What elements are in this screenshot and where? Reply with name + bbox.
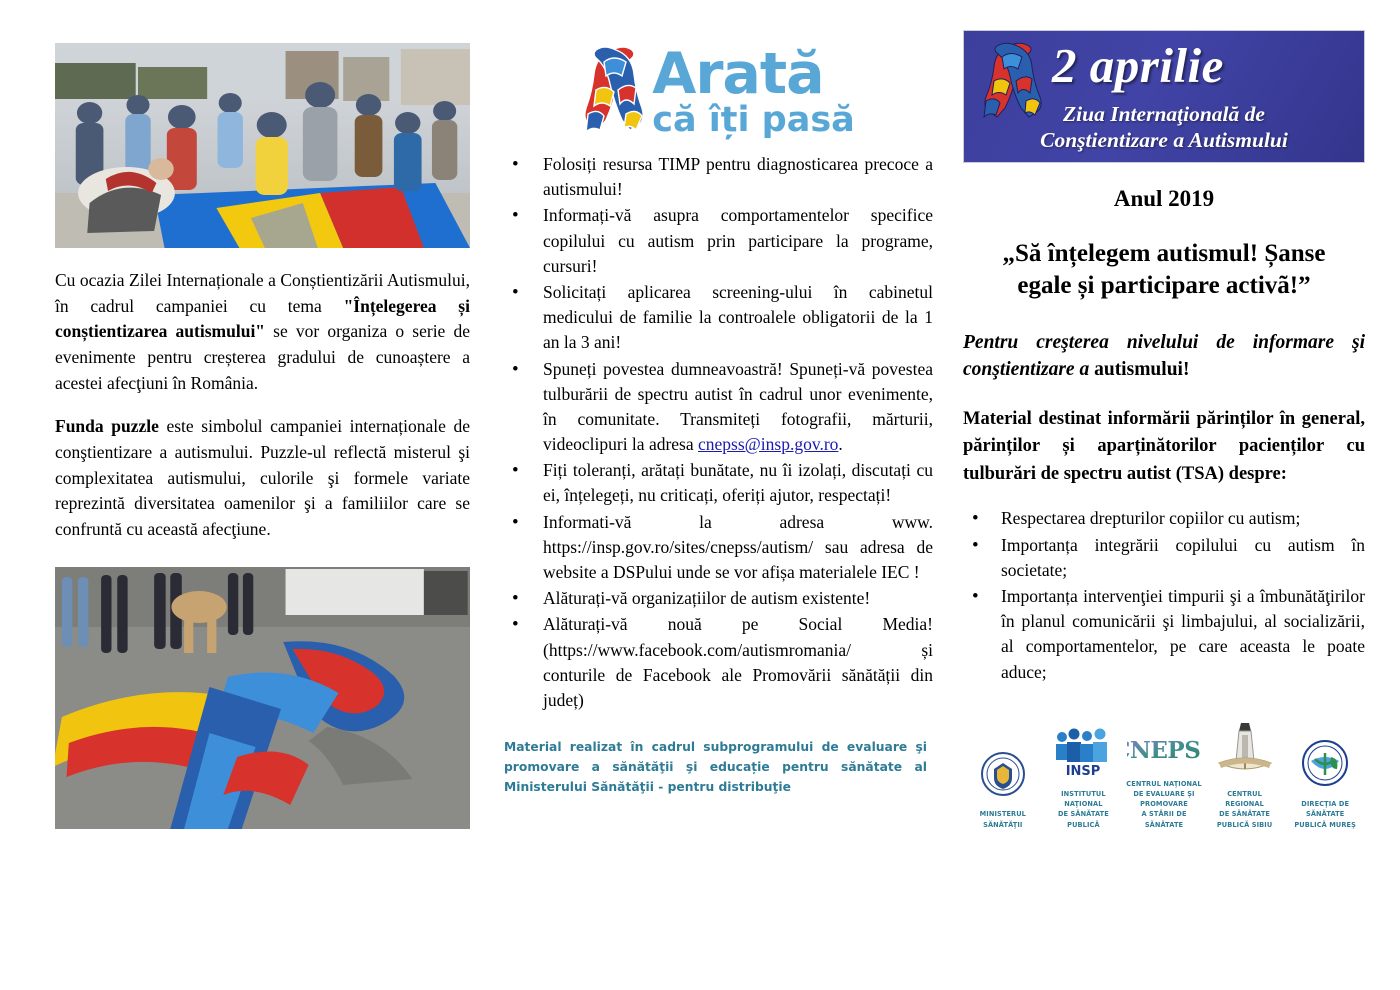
list-item: Informati-vă la adresa www. https://insp…: [504, 510, 933, 586]
logo-caption: CENTRUL NAŢIONAL DE EVALUARE ŞI PROMOVAR…: [1126, 779, 1202, 830]
list-item-story: Spuneți povestea dumneavoastră! Spuneți-…: [504, 357, 933, 458]
list-item: Importanța intervenţiei timpurii şi a îm…: [963, 584, 1365, 685]
logo-line-2: că îți pasă: [652, 104, 855, 136]
lighthouse-book-icon: [1215, 721, 1275, 777]
email-link[interactable]: cnepss@insp.gov.ro: [698, 434, 838, 454]
middle-column: Arată că îți pasă Folosiți resursa TIMP …: [490, 30, 945, 970]
logo-crsp-sibiu: CENTRUL REGIONAL DE SĂNĂTATE PUBLICĂ SIB…: [1207, 721, 1283, 830]
list-item: Solicitați aplicarea screening-ului în c…: [504, 280, 933, 356]
topics-bullet-list: Respectarea drepturilor copiilor cu auti…: [963, 506, 1365, 684]
intro-paragraph: Cu ocazia Zilei Internaționale a Conștie…: [55, 268, 470, 397]
puzzle-text-bold: Funda puzzle: [55, 416, 159, 436]
banner-title: 2 aprilie: [1052, 37, 1356, 94]
banner-subtitle-line-2: Conştientizare a Autismului: [964, 127, 1364, 153]
right-column: 2 aprilie Ziua Internaţională de Conştie…: [945, 30, 1365, 970]
slogan-line-2: egale și participare activã!”: [963, 270, 1365, 302]
banner-subtitle: Ziua Internaţională de Conştientizare a …: [964, 101, 1364, 153]
story-text-post: .: [838, 434, 842, 454]
list-item: Respectarea drepturilor copiilor cu auti…: [963, 506, 1365, 531]
list-item: Informați-vă asupra comportamentelor spe…: [504, 203, 933, 279]
year-label: Anul 2019: [963, 186, 1365, 212]
list-item: Alăturați-vă organizațiilor de autism ex…: [504, 586, 933, 611]
photo-giant-puzzle-ribbon-pavement: [55, 567, 470, 829]
logo-caption: CENTRUL REGIONAL DE SĂNĂTATE PUBLICĂ SIB…: [1207, 789, 1283, 830]
list-item: Importanța integrării copilului cu autis…: [963, 533, 1365, 583]
logo-cnepss: CNEPSS CENTRUL NAŢIONAL DE EVALUARE ŞI P…: [1126, 711, 1202, 830]
insp-people-icon: INSP: [1054, 727, 1112, 777]
logo-caption: INSTITUTUL NAŢIONAL DE SĂNĂTATE PUBLICĂ: [1046, 789, 1122, 830]
arata-ca-iti-pasa-logo: Arată că îți pasă: [504, 32, 933, 152]
funding-note: Material realizat în cadrul subprogramul…: [504, 738, 933, 798]
promo-roman-text: autismului!: [1094, 359, 1189, 380]
cnepss-wordmark-icon: CNEPSS: [1127, 733, 1201, 767]
partner-logos-strip: MINISTERUL SĂNĂTĂŢII INSP INSTITUTUL NA: [963, 711, 1365, 830]
logo-caption: DIRECŢIA DE SĂNĂTATE PUBLICĂ MUREŞ: [1287, 799, 1363, 830]
logo-dsp-mures: DIRECŢIA DE SĂNĂTATE PUBLICĂ MUREŞ: [1287, 731, 1363, 830]
logo-line-1: Arată: [652, 48, 855, 100]
mures-health-seal-icon: [1301, 739, 1349, 787]
puzzle-ribbon-icon: [582, 42, 646, 142]
slogan-line-1: „Să înțelegem autismul! Șanse: [963, 238, 1365, 270]
left-column: Cu ocazia Zilei Internaționale a Conștie…: [35, 30, 490, 970]
list-item: Alăturați-vă nouă pe Social Media! (http…: [504, 612, 933, 713]
audience-statement: Material destinat informării părinților …: [963, 406, 1365, 488]
svg-text:CNEPSS: CNEPSS: [1127, 737, 1201, 764]
logo-caption: MINISTERUL SĂNĂTĂŢII: [965, 809, 1041, 829]
photo-crowd-puzzle-ribbon-street: [55, 43, 470, 248]
action-bullet-list: Folosiți resursa TIMP pentru diagnostica…: [504, 152, 933, 713]
list-item: Fiți toleranți, arătați bunătate, nu îi …: [504, 458, 933, 508]
government-seal-icon: [980, 751, 1026, 797]
campaign-slogan: „Să înțelegem autismul! Șanse egale și p…: [963, 238, 1365, 302]
logo-insp: INSP INSTITUTUL NAŢIONAL DE SĂNĂTATE PUB…: [1046, 721, 1122, 830]
svg-text:INSP: INSP: [1066, 764, 1101, 777]
banner-subtitle-line-1: Ziua Internaţională de: [964, 101, 1364, 127]
brochure-page: Cu ocazia Zilei Internaționale a Conștie…: [0, 0, 1400, 990]
awareness-day-banner: 2 aprilie Ziua Internaţională de Conştie…: [963, 30, 1365, 163]
logo-ministerul-sanatatii: MINISTERUL SĂNĂTĂŢII: [965, 741, 1041, 829]
puzzle-paragraph: Funda puzzle este simbolul campaniei int…: [55, 414, 470, 543]
list-item: Folosiți resursa TIMP pentru diagnostica…: [504, 152, 933, 202]
promo-statement: Pentru creşterea nivelului de informare …: [963, 330, 1365, 384]
